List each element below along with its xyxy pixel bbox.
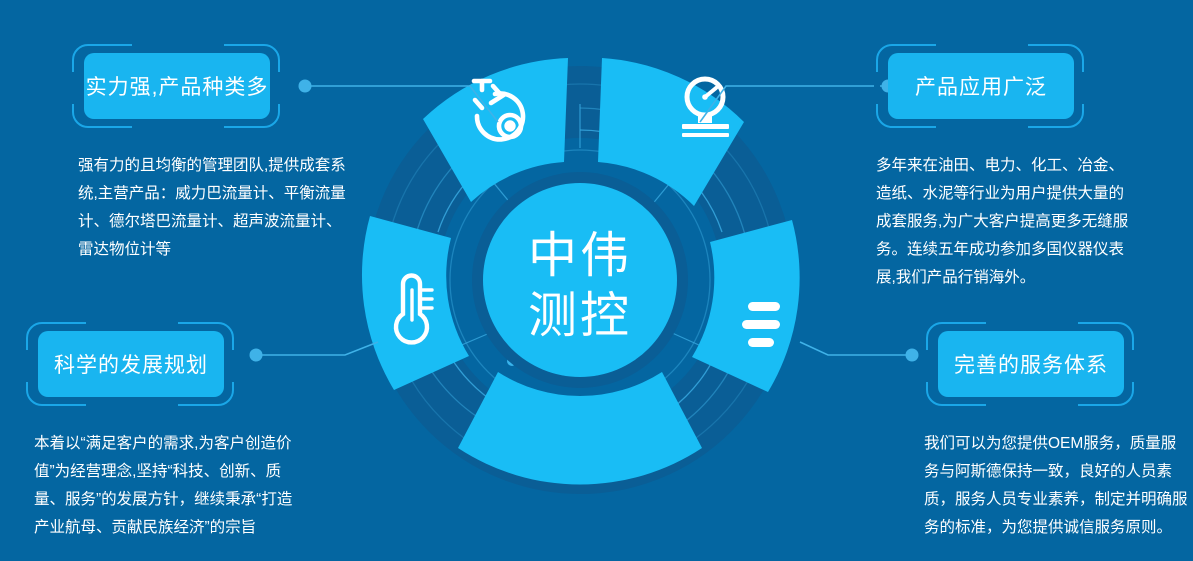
badge-planning[interactable]: 科学的发展规划 — [26, 322, 236, 408]
badge-strength[interactable]: 实力强,产品种类多 — [72, 44, 282, 130]
block-service: 完善的服务体系 我们可以为您提供OEM服务，质量服务与阿斯德保持一致，良好的人员… — [916, 322, 1193, 542]
badge-label: 完善的服务体系 — [954, 349, 1108, 379]
block-body: 本着以“满足客户的需求,为客户创造价值”为经营理念,坚持“科技、创新、质量、服务… — [34, 430, 306, 542]
block-application: 产品应用广泛 多年来在油田、电力、化工、冶金、造纸、水泥等行业为用户提供大量的成… — [866, 44, 1166, 292]
badge-application[interactable]: 产品应用广泛 — [876, 44, 1086, 130]
badge-fill[interactable]: 科学的发展规划 — [38, 331, 224, 397]
badge-fill[interactable]: 完善的服务体系 — [938, 331, 1124, 397]
block-body: 多年来在油田、电力、化工、冶金、造纸、水泥等行业为用户提供大量的成套服务,为广大… — [876, 152, 1138, 292]
badge-label: 实力强,产品种类多 — [86, 71, 269, 101]
badge-service[interactable]: 完善的服务体系 — [926, 322, 1136, 408]
center-title-line1: 中伟 — [528, 229, 632, 283]
badge-fill[interactable]: 产品应用广泛 — [888, 53, 1074, 119]
badge-label: 科学的发展规划 — [54, 349, 208, 379]
block-body: 强有力的且均衡的管理团队,提供成套系统,主营产品：威力巴流量计、平衡流量计、德尔… — [78, 152, 346, 264]
center-title-line2: 测控 — [528, 289, 632, 343]
badge-fill[interactable]: 实力强,产品种类多 — [84, 53, 270, 119]
block-planning: 科学的发展规划 本着以“满足客户的需求,为客户创造价值”为经营理念,坚持“科技、… — [26, 322, 326, 542]
infographic-canvas: 中伟 测控 实力强,产品种类多 强有力的且均衡的管理团队,提供成套系统,主营产品… — [0, 0, 1193, 561]
block-body: 我们可以为您提供OEM服务，质量服务与阿斯德保持一致，良好的人员素质，服务人员专… — [924, 430, 1190, 542]
badge-label: 产品应用广泛 — [915, 71, 1047, 101]
block-strength: 实力强,产品种类多 强有力的且均衡的管理团队,提供成套系统,主营产品：威力巴流量… — [72, 44, 372, 264]
central-wheel-graphic: 中伟 测控 — [330, 20, 840, 540]
